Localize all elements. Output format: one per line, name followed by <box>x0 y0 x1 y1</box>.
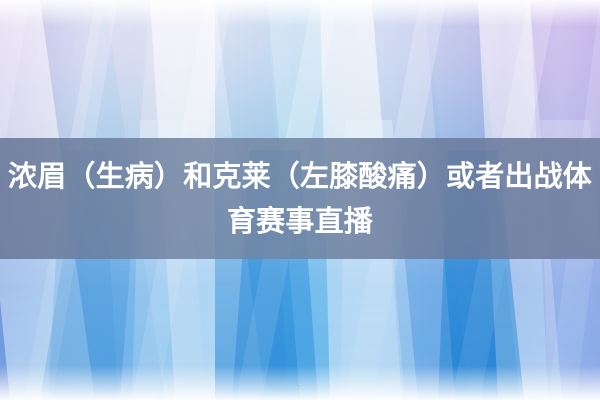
caption-text: 浓眉（生病）和克莱（左膝酸痛）或者出战体育赛事直播 <box>8 154 592 244</box>
caption-overlay-band: 浓眉（生病）和克莱（左膝酸痛）或者出战体育赛事直播 <box>0 138 600 259</box>
thumbnail-canvas: 浓眉（生病）和克莱（左膝酸痛）或者出战体育赛事直播 · · <box>0 0 600 400</box>
